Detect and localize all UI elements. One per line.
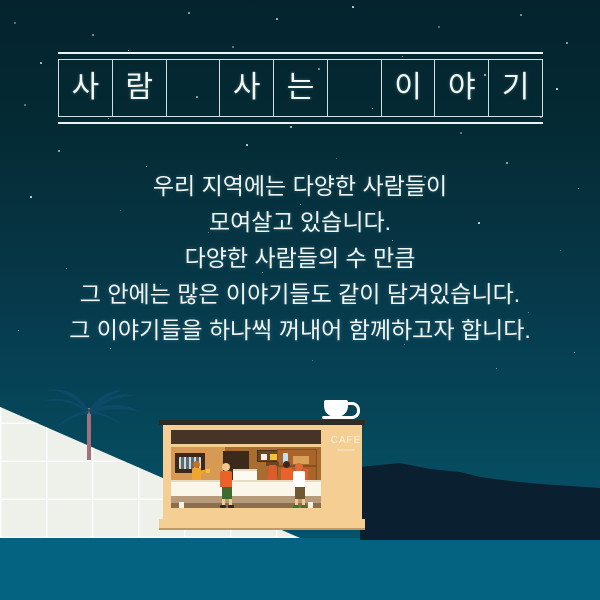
title-block: 사람사는이야기 [58,52,543,124]
customer-left-shorts [222,487,232,499]
title-cell-1: 람 [113,60,167,116]
customer-right-head [295,463,303,471]
cafe-window [171,447,321,508]
customer-left-torso [220,471,232,487]
customer-left-head [222,463,230,471]
cup-saucer [322,416,352,419]
customer-right-torso [293,471,305,487]
body-line-4: 그 이야기들을 하나씩 꺼내어 함께하고자 합니다. [0,312,600,348]
title-cell-8: 기 [489,60,542,116]
barista-right-head [283,461,290,468]
body-line-1: 모여살고 있습니다. [0,204,600,240]
window-pillar-left [179,502,184,508]
title-rule-top [58,52,543,54]
person-customer-left [219,463,235,508]
title-cell-6: 이 [382,60,436,116]
barista-left-handing-item [206,469,210,473]
title-cell-3: 사 [220,60,274,116]
cafe-sign-underline [337,449,355,451]
cafe-building: CAFE [155,397,370,531]
title-cell-0: 사 [59,60,113,116]
customer-left-shoe-b [228,505,234,508]
customer-right-shoe-a [293,505,299,508]
shelf-item-box-a [270,454,277,460]
coffee-cup-icon [322,397,362,422]
title-cell-4: 는 [274,60,328,116]
palm-tree [40,388,160,460]
barista-left-head [193,461,200,468]
cafe-awning [171,430,321,444]
title-rule-bottom [58,122,543,124]
title-character-grid: 사람사는이야기 [58,59,543,117]
cafe-sign-label: CAFE [330,435,362,446]
customer-left-shoe-a [220,505,226,508]
customer-right-shorts [295,487,305,499]
body-line-2: 다양한 사람들의 수 만큼 [0,240,600,276]
cafe-sign: CAFE [330,425,362,519]
title-cell-2 [167,60,221,116]
hill-silhouette [360,455,600,540]
ground-band [0,538,600,600]
cafe-base-shadow [159,528,365,530]
body-copy: 우리 지역에는 다양한 사람들이모여살고 있습니다.다양한 사람들의 수 만큼그… [0,168,600,348]
body-line-0: 우리 지역에는 다양한 사람들이 [0,168,600,204]
customer-right-shoe-b [301,505,307,508]
person-barista-left [191,461,205,483]
poster-canvas: 사람사는이야기 우리 지역에는 다양한 사람들이모여살고 있습니다.다양한 사람… [0,0,600,600]
person-customer-right [292,463,308,508]
body-line-3: 그 안에는 많은 이야기들도 같이 담겨있습니다. [0,276,600,312]
cafe-base [159,519,365,528]
shelf-item-cup [261,454,267,460]
window-pillar-right [308,502,313,508]
title-cell-7: 야 [435,60,489,116]
title-cell-5 [328,60,382,116]
barista-right-torso [281,468,292,480]
